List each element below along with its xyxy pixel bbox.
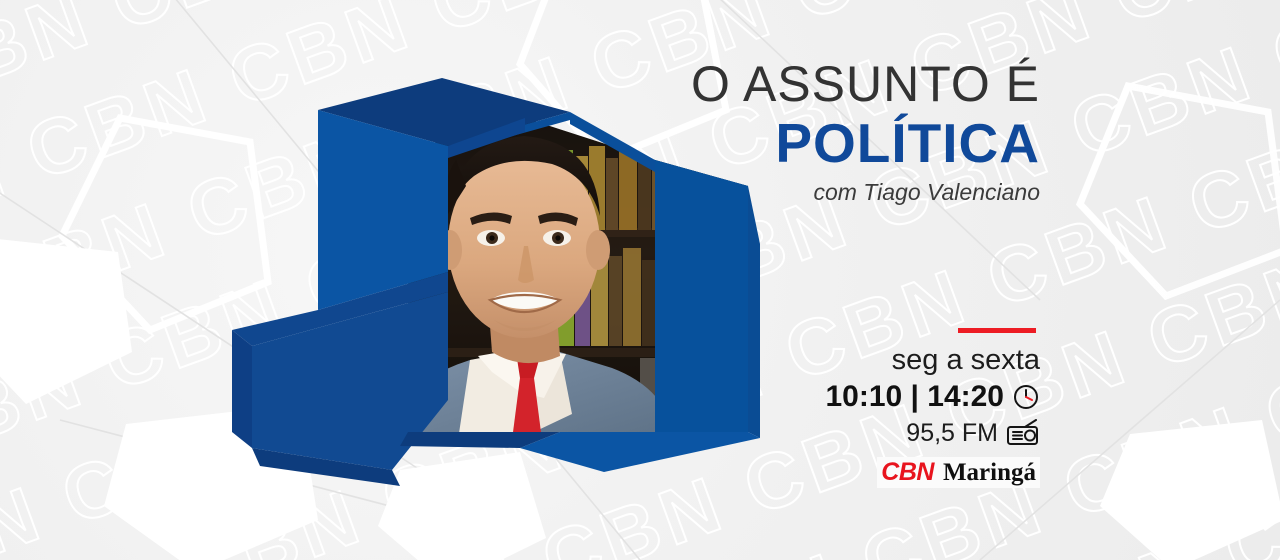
schedule-times-row: 10:10 | 14:20 [720,379,1040,415]
red-divider-rule [958,328,1036,333]
cbn-station-logo: CBN Maringá [877,457,1040,488]
station-city: Maringá [943,458,1036,487]
show-host-line: com Tiago Valenciano [520,178,1040,206]
schedule-frequency: 95,5 FM [906,418,998,448]
clock-icon [1012,383,1040,411]
radio-icon [1006,419,1040,447]
schedule-frequency-row: 95,5 FM [720,418,1040,448]
show-title-line2: POLÍTICA [520,112,1040,174]
schedule-days: seg a sexta [720,343,1040,377]
radio-show-banner: CBN CBN CBN CBN CBN CBN CBN CBN CBN CBN … [0,0,1280,560]
cube-left-edge [232,330,252,448]
schedule-times: 10:10 | 14:20 [825,379,1004,415]
schedule-block: seg a sexta 10:10 | 14:20 95,5 FM [720,328,1040,488]
show-title-block: O ASSUNTO É POLÍTICA com Tiago Valencian… [520,56,1040,206]
show-title-line1: O ASSUNTO É [520,56,1040,112]
cbn-wordmark: CBN [881,458,934,487]
